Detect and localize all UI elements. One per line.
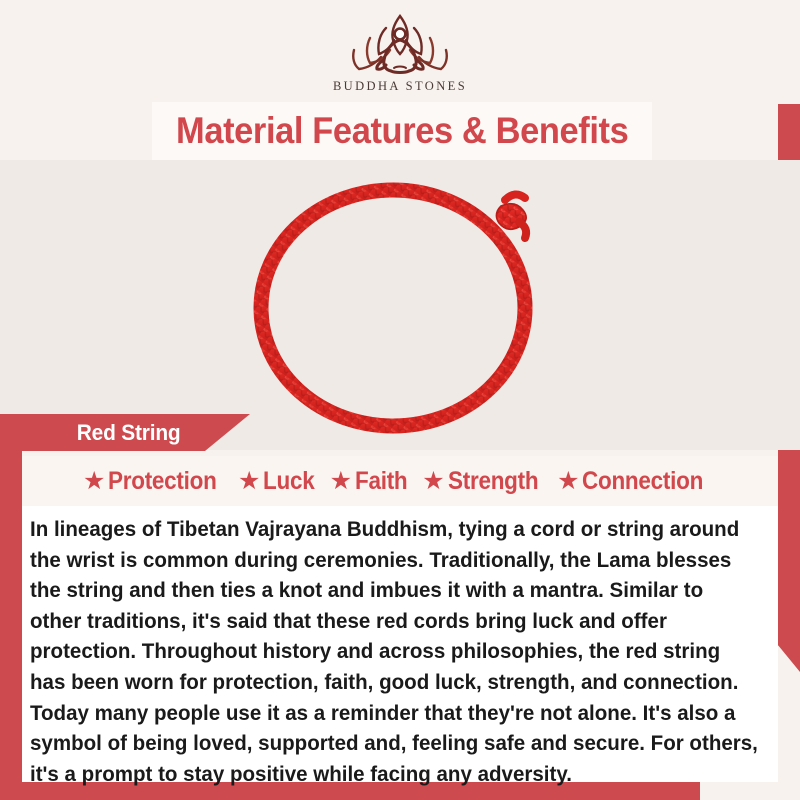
star-icon: ★ — [330, 469, 352, 494]
brand-header: BUDDHA STONES — [0, 0, 800, 104]
page-title: Material Features & Benefits — [176, 110, 628, 152]
star-icon: ★ — [557, 469, 579, 494]
red-string-bracelet-image — [243, 170, 563, 440]
product-label: Red String — [77, 420, 181, 446]
benefit-item: ★ Faith — [330, 467, 414, 496]
benefit-item: ★ Protection — [83, 467, 229, 496]
title-banner: Material Features & Benefits — [152, 102, 652, 160]
benefit-label: Connection — [582, 467, 703, 496]
benefit-label: Luck — [263, 467, 314, 496]
brand-logo: BUDDHA STONES — [0, 8, 800, 94]
benefit-label: Faith — [355, 467, 407, 496]
description-panel: In lineages of Tibetan Vajrayana Buddhis… — [22, 506, 778, 782]
star-icon: ★ — [422, 469, 444, 494]
benefit-label: Protection — [108, 467, 217, 496]
benefits-row: ★ Protection ★ Luck ★ Faith ★ Strength ★… — [22, 456, 778, 506]
benefit-item: ★ Connection — [557, 467, 717, 496]
product-photo-area — [0, 160, 800, 450]
description-text: In lineages of Tibetan Vajrayana Buddhis… — [30, 514, 759, 789]
benefit-item: ★ Luck — [238, 467, 321, 496]
lotus-meditation-icon — [0, 8, 800, 78]
star-icon: ★ — [238, 469, 260, 494]
benefit-item: ★ Strength — [422, 467, 548, 496]
brand-name: BUDDHA STONES — [0, 79, 800, 94]
star-icon: ★ — [83, 469, 105, 494]
infographic-poster: BUDDHA STONES Material Features & Benefi… — [0, 0, 800, 800]
benefit-label: Strength — [448, 467, 538, 496]
